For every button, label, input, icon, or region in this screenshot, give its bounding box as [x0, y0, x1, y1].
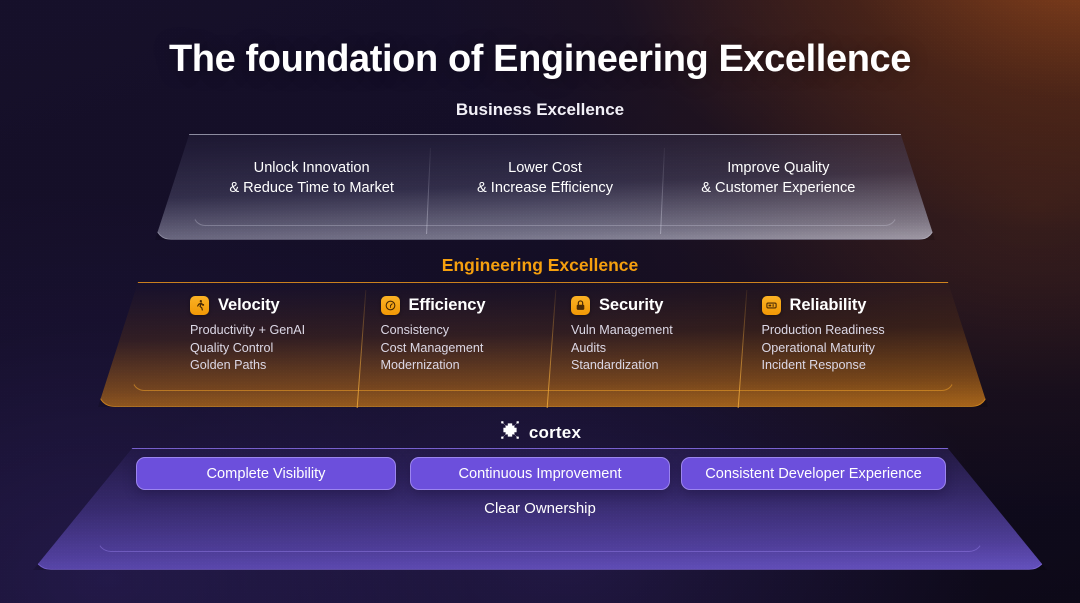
pillar-item: Vuln Management [571, 322, 746, 340]
business-column-line1: Lower Cost [508, 158, 582, 178]
pillar-header: Efficiency [381, 296, 556, 315]
pillar-title: Reliability [790, 296, 867, 315]
business-column-line1: Improve Quality [727, 158, 829, 178]
pill-continuous-improvement[interactable]: Continuous Improvement [410, 457, 670, 490]
pillar-header: Reliability [762, 296, 937, 315]
pillar-title: Velocity [218, 296, 280, 315]
infographic-canvas: The foundation of Engineering Excellence… [0, 0, 1080, 603]
engineering-excellence-layer: Velocity Productivity + GenAI Quality Co… [98, 282, 988, 407]
business-column-line1: Unlock Innovation [254, 158, 370, 178]
cortex-brand: cortex [0, 419, 1080, 446]
pillar-title: Efficiency [409, 296, 486, 315]
cortex-wordmark: cortex [529, 423, 581, 443]
pillar-item: Incident Response [762, 357, 937, 375]
engineering-pillars: Velocity Productivity + GenAI Quality Co… [176, 296, 936, 396]
pillar-item: Cost Management [381, 340, 556, 358]
gauge-icon [381, 296, 400, 315]
clear-ownership-label: Clear Ownership [33, 500, 1047, 517]
pillar-reliability: Reliability Production Readiness Operati… [746, 296, 937, 396]
pillar-efficiency: Efficiency Consistency Cost Management M… [365, 296, 556, 396]
page-title: The foundation of Engineering Excellence [0, 38, 1080, 81]
pillar-item-list: Consistency Cost Management Modernizatio… [381, 322, 556, 375]
pillar-item-list: Productivity + GenAI Quality Control Gol… [190, 322, 365, 375]
pillar-item: Quality Control [190, 340, 365, 358]
business-excellence-heading: Business Excellence [0, 100, 1080, 120]
pillar-title: Security [599, 296, 663, 315]
business-column: Lower Cost & Increase Efficiency [428, 154, 661, 220]
pillar-item: Audits [571, 340, 746, 358]
engineering-excellence-heading: Engineering Excellence [0, 255, 1080, 276]
business-column: Unlock Innovation & Reduce Time to Marke… [195, 154, 428, 220]
pillar-velocity: Velocity Productivity + GenAI Quality Co… [176, 296, 365, 396]
pillar-header: Velocity [190, 296, 365, 315]
pill-complete-visibility[interactable]: Complete Visibility [136, 457, 396, 490]
pillar-item: Production Readiness [762, 322, 937, 340]
server-icon [762, 296, 781, 315]
pillar-item: Standardization [571, 357, 746, 375]
pill-consistent-developer-experience[interactable]: Consistent Developer Experience [681, 457, 946, 490]
business-excellence-layer: Unlock Innovation & Reduce Time to Marke… [155, 134, 935, 240]
pillar-item: Golden Paths [190, 357, 365, 375]
business-column-line2: & Increase Efficiency [477, 178, 613, 198]
pillar-header: Security [571, 296, 746, 315]
lock-icon [571, 296, 590, 315]
pillar-item: Operational Maturity [762, 340, 937, 358]
pillar-item: Productivity + GenAI [190, 322, 365, 340]
pillar-item: Consistency [381, 322, 556, 340]
cortex-logo-icon [499, 419, 521, 446]
business-columns: Unlock Innovation & Reduce Time to Marke… [195, 154, 895, 220]
pillar-security: Security Vuln Management Audits Standard… [555, 296, 746, 396]
pillar-item-list: Vuln Management Audits Standardization [571, 322, 746, 375]
pillar-item-list: Production Readiness Operational Maturit… [762, 322, 937, 375]
running-person-icon [190, 296, 209, 315]
business-column-line2: & Customer Experience [701, 178, 855, 198]
cortex-pill-row: Complete Visibility Continuous Improveme… [0, 457, 1080, 490]
pillar-item: Modernization [381, 357, 556, 375]
business-column-line2: & Reduce Time to Market [229, 178, 394, 198]
business-column: Improve Quality & Customer Experience [662, 154, 895, 220]
